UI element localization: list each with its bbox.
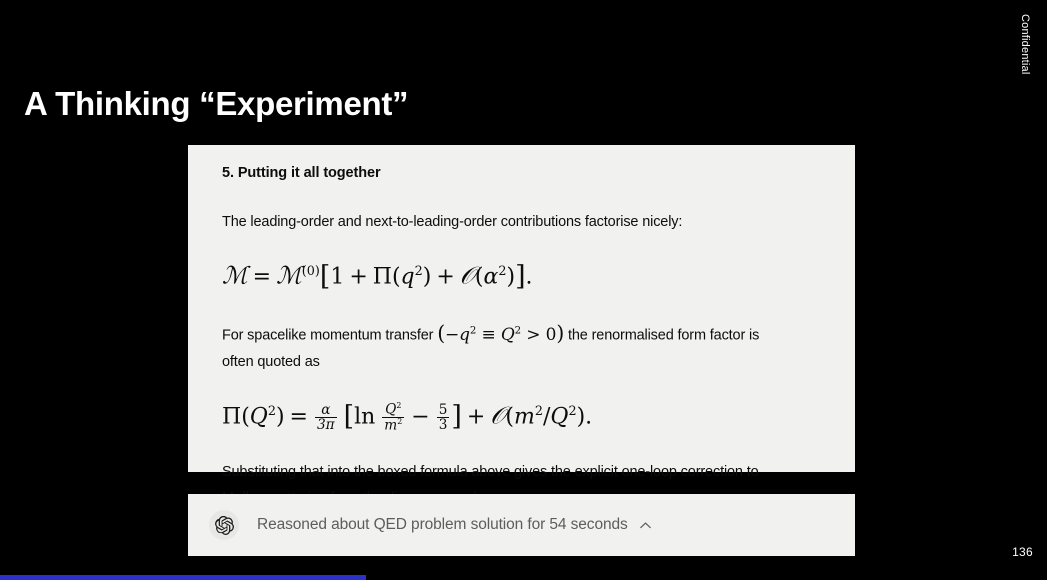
reasoning-summary-bar[interactable]: Reasoned about QED problem solution for … [188,494,855,556]
inline-Q-sup: 2 [515,325,521,336]
eq2-ln: ln [354,404,375,429]
inline-q: q [459,325,470,345]
inline-Q: Q [501,325,515,345]
presentation-progress-fill [0,575,366,580]
eq2-plus: + [467,404,485,429]
eq2-frac-log: Q2m2 [382,402,404,434]
eq1-m-zero: ℳ [276,261,302,289]
eq2-frac-log-den-base: m [384,417,397,433]
presentation-progress-track[interactable] [0,575,1047,580]
eq2-bigo-m-sup: 2 [535,404,543,419]
confidential-watermark: Confidential [1016,14,1034,104]
eq2-Q: Q [250,404,268,429]
eq1-plus-2: + [436,264,454,289]
eq1-equals: = [253,264,271,289]
eq1-plus-1: + [349,264,367,289]
eq2-bracket-close: ] [451,401,461,432]
page-title: A Thinking “Experiment” [24,84,408,124]
eq2-frac-five-den: 3 [437,418,450,433]
answer-card: 5. Putting it all together The leading-o… [188,145,855,472]
eq2-frac-log-num-base: Q [385,401,396,417]
eq2-frac-alpha-num: α [315,403,337,419]
inline-minus: − [445,325,459,345]
inline-q-sup: 2 [470,325,476,336]
page-number: 136 [1012,545,1033,559]
eq2-frac-alpha: α3π [315,403,337,433]
equation-vacuum-polarisation: Π(Q2)=α3π[lnQ2m2−53]+𝒪(m2/Q2). [222,397,823,433]
inline-paren-open: ( [437,321,445,345]
eq1-one: 1 [330,264,344,289]
eq2-equals: = [290,404,308,429]
eq2-frac-alpha-den: 3π [315,418,337,433]
eq2-paren-open: ( [241,404,250,429]
eq1-period: . [526,264,533,289]
inline-equiv: ≡ [481,325,495,345]
eq2-Q-sup: 2 [268,404,276,419]
inline-math-spacelike: (−q2 ≡ Q2 > 0) [437,325,564,345]
eq1-q: q [401,264,415,289]
chevron-up-icon[interactable] [638,518,653,533]
inline-gt: > [526,325,540,345]
eq2-frac-five-thirds: 53 [437,403,450,433]
slide-root: Confidential A Thinking “Experiment” 136… [0,0,1047,580]
eq2-period: . [585,404,592,429]
eq2-frac-log-num: Q2 [382,402,404,418]
eq1-q-sup: 2 [415,264,423,279]
eq1-lhs: ℳ [222,261,248,289]
eq2-bigo-Q: Q [550,404,568,429]
eq2-frac-log-num-sup: 2 [396,401,401,410]
eq2-pi: Π [222,404,241,429]
eq1-bracket-close: ] [515,261,525,292]
paragraph-spacelike: For spacelike momentum transfer (−q2 ≡ Q… [222,318,782,375]
eq2-bracket-open: [ [344,401,354,432]
eq2-bigo: 𝒪 [490,401,505,429]
eq1-alpha: α [484,264,499,289]
paragraph-spacelike-part-1: For spacelike momentum transfer [222,328,433,344]
eq1-bigo: 𝒪 [460,261,475,289]
eq1-m-zero-sup: (0) [302,264,320,279]
reasoning-summary-label: Reasoned about QED problem solution for … [257,516,628,534]
eq2-frac-five-num: 5 [437,403,450,419]
eq2-frac-log-den: m2 [382,418,404,433]
equation-matrix-element: ℳ=ℳ(0)[1+Π(q2)+𝒪(α2)]. [222,257,823,292]
eq2-minus: − [411,404,429,429]
eq2-paren-close: ) [276,404,285,429]
paragraph-factorise: The leading-order and next-to-leading-or… [222,209,782,235]
card-section-heading: 5. Putting it all together [222,165,823,181]
inline-zero: 0 [546,325,557,345]
openai-logo-icon [209,510,239,540]
eq1-pi: Π [373,264,392,289]
eq2-frac-log-den-sup: 2 [397,417,402,426]
inline-paren-close: ) [556,321,564,345]
eq2-bigo-Q-sup: 2 [568,404,576,419]
eq2-bigo-m: m [514,404,535,429]
eq1-bracket-open: [ [320,261,330,292]
